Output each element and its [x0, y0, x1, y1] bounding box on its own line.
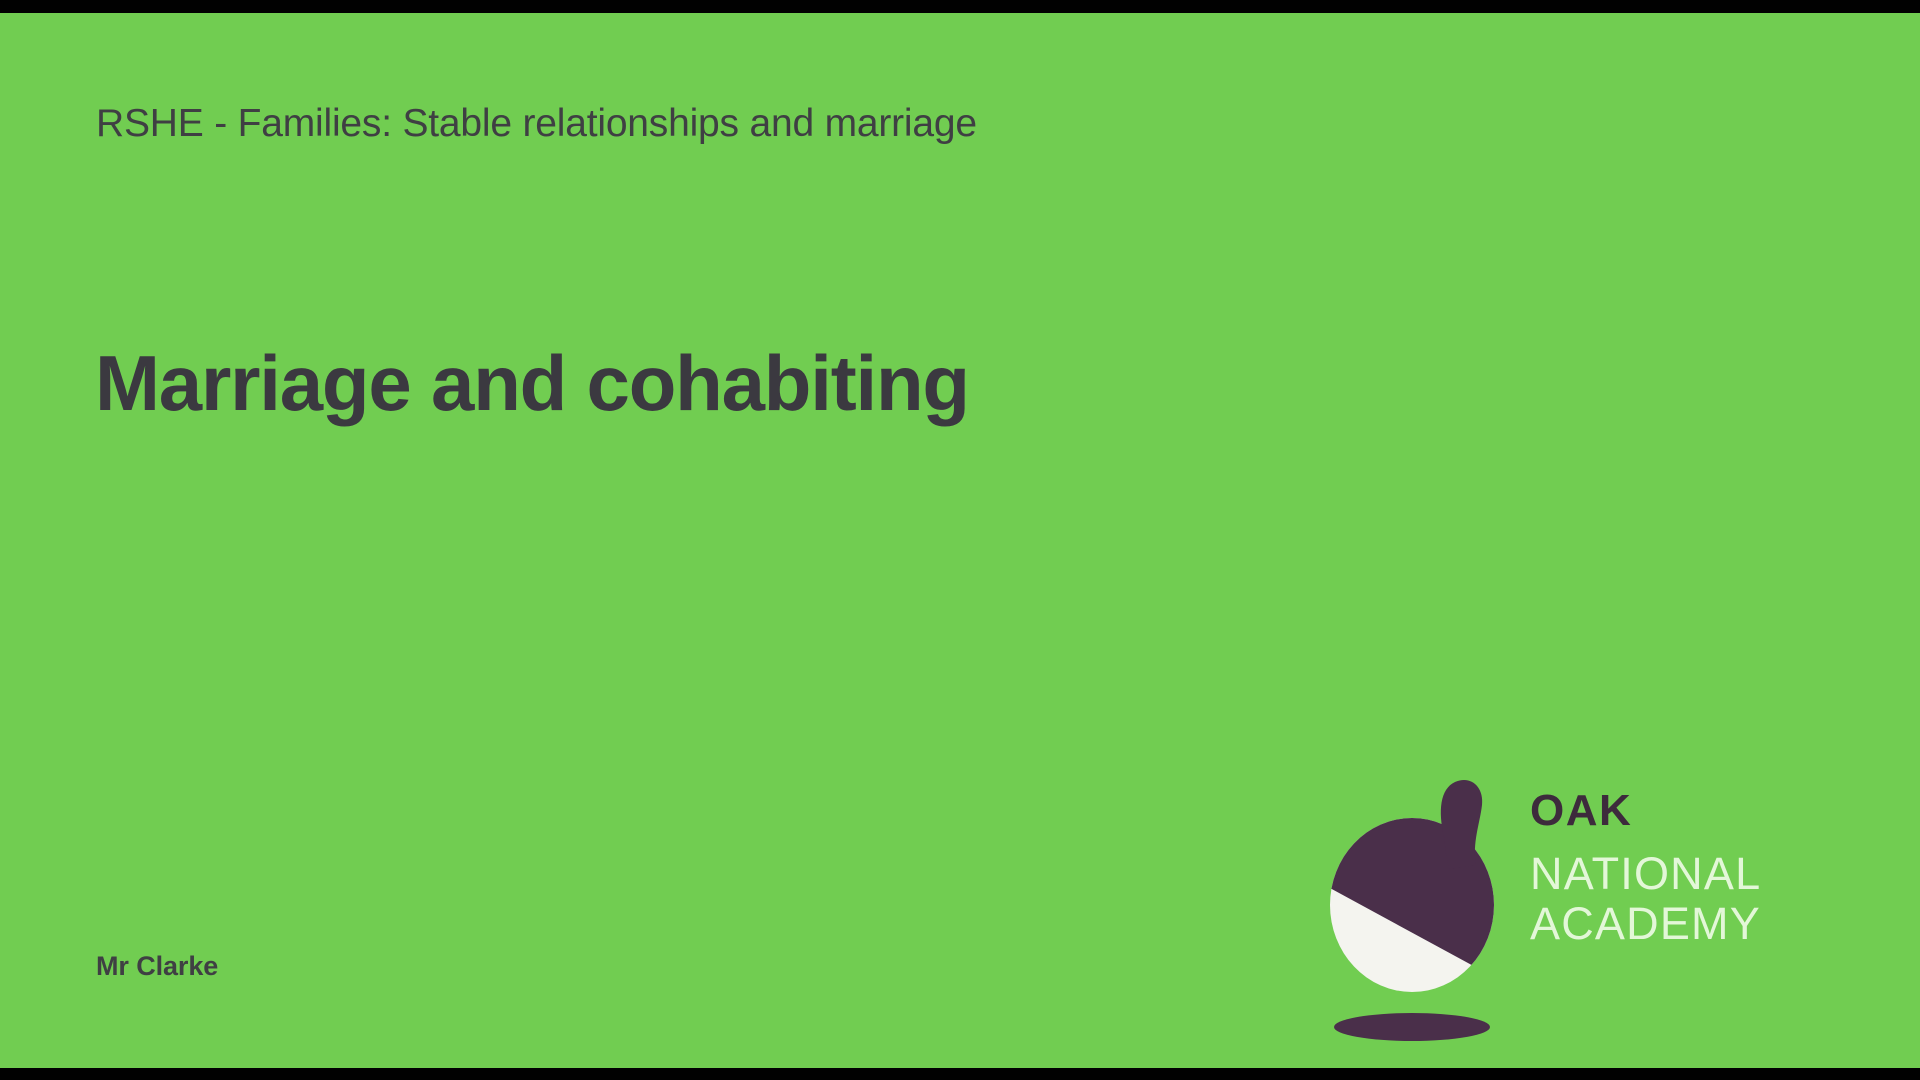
oak-national-academy-logo: OAK NATIONAL ACADEMY	[1326, 765, 1866, 1055]
wordmark-line-academy: ACADEMY	[1530, 899, 1860, 949]
letterbox-bar-top	[0, 0, 1920, 13]
teacher-name: Mr Clarke	[96, 951, 218, 982]
wordmark-line-national: NATIONAL	[1530, 849, 1860, 899]
acorn-shadow	[1334, 1013, 1490, 1041]
lesson-title-slide: RSHE - Families: Stable relationships an…	[0, 13, 1920, 1068]
wordmark-line-oak: OAK	[1530, 789, 1860, 833]
letterbox-bar-bottom	[0, 1068, 1920, 1080]
oak-wordmark: OAK NATIONAL ACADEMY	[1530, 789, 1860, 950]
lesson-title: Marriage and cohabiting	[95, 338, 969, 429]
video-player-viewport: RSHE - Families: Stable relationships an…	[0, 0, 1920, 1080]
unit-subtitle: RSHE - Families: Stable relationships an…	[96, 102, 977, 146]
acorn-icon	[1326, 765, 1516, 1055]
